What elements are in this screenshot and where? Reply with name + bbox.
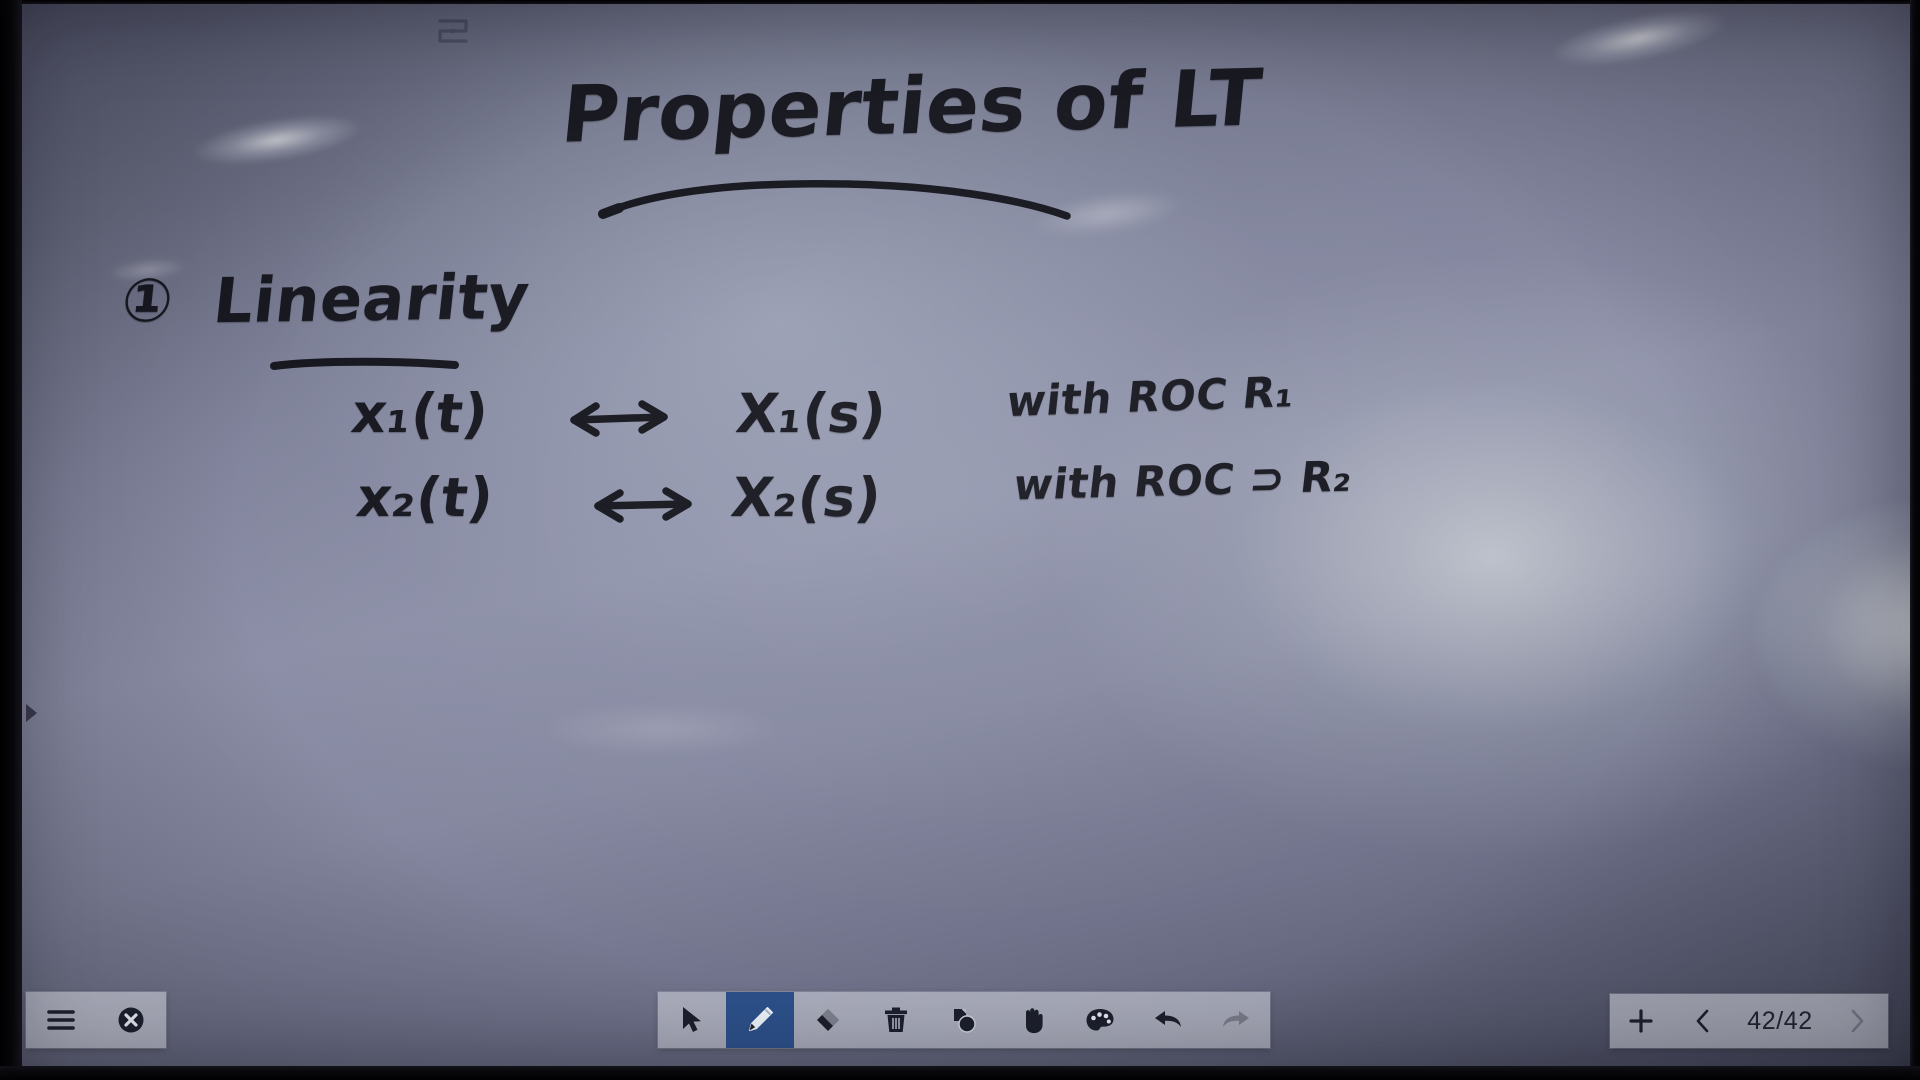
prev-page-button[interactable] bbox=[1672, 994, 1734, 1048]
eraser-tool[interactable] bbox=[794, 992, 862, 1048]
light-reflection-bottom bbox=[542, 704, 782, 754]
next-page-button[interactable] bbox=[1826, 994, 1888, 1048]
shapes-tool[interactable] bbox=[930, 992, 998, 1048]
handwritten-heading-linearity: Linearity bbox=[210, 260, 533, 338]
equation-2-arrow-icon bbox=[580, 482, 705, 528]
equation-1-right: X₁(s) bbox=[733, 382, 890, 445]
equation-2-left: x₂(t) bbox=[353, 466, 497, 529]
whiteboard-canvas[interactable]: Properties of LT ① Linearity x₁(t) X₁(s) bbox=[22, 4, 1910, 1066]
pan-tool[interactable] bbox=[998, 992, 1066, 1048]
app-logo-s-icon bbox=[434, 16, 472, 50]
light-reflection-left bbox=[190, 106, 364, 174]
linearity-underline-stroke bbox=[270, 356, 460, 372]
equation-1-left: x₁(t) bbox=[348, 382, 492, 445]
page-indicator: 42/42 bbox=[1734, 994, 1826, 1048]
screen-bezel-bottom bbox=[0, 1066, 1920, 1080]
redo-button[interactable] bbox=[1202, 992, 1270, 1048]
color-tool[interactable] bbox=[1066, 992, 1134, 1048]
panel-expand-triangle-icon[interactable] bbox=[26, 704, 37, 722]
light-reflection-right bbox=[1757, 504, 1910, 764]
screen-capture: Properties of LT ① Linearity x₁(t) X₁(s) bbox=[0, 0, 1920, 1080]
delete-tool[interactable] bbox=[862, 992, 930, 1048]
toolbar-right: 42/42 bbox=[1610, 994, 1888, 1048]
handwritten-roc-note-1: with ROC R₁ bbox=[1005, 367, 1298, 426]
equation-2-right: X₂(s) bbox=[728, 466, 885, 529]
toolbar-center bbox=[658, 992, 1270, 1048]
screen-bezel-left bbox=[0, 0, 22, 1080]
screen-bezel-top bbox=[0, 0, 1920, 4]
select-tool[interactable] bbox=[658, 992, 726, 1048]
toolbar-left bbox=[26, 992, 166, 1048]
title-underline-stroke bbox=[597, 180, 1077, 220]
undo-button[interactable] bbox=[1134, 992, 1202, 1048]
handwritten-title: Properties of LT bbox=[558, 53, 1266, 160]
screen-bezel-right bbox=[1910, 0, 1920, 1080]
pen-tool[interactable] bbox=[726, 992, 794, 1048]
close-button[interactable] bbox=[96, 992, 166, 1048]
equation-1-arrow-icon bbox=[552, 396, 682, 442]
menu-button[interactable] bbox=[26, 992, 96, 1048]
light-reflection-top-right bbox=[1549, 4, 1729, 76]
add-page-button[interactable] bbox=[1610, 994, 1672, 1048]
handwritten-item-number: ① bbox=[118, 266, 177, 336]
handwritten-roc-note-2: with ROC ⊃ R₂ bbox=[1011, 451, 1355, 509]
